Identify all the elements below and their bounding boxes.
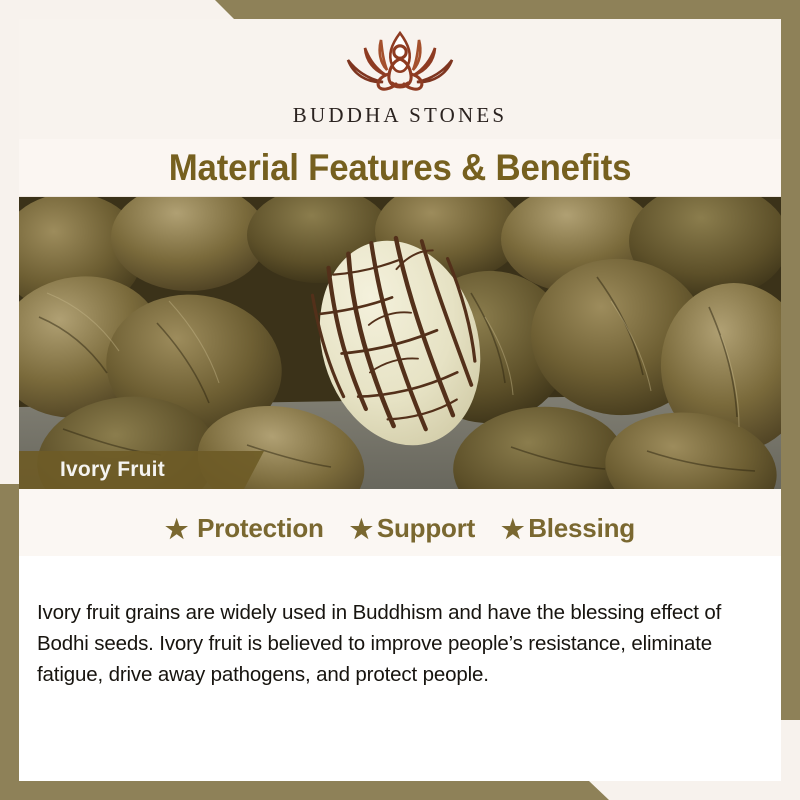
- benefits-row: ★ Protection ★ Support ★ Blessing: [19, 501, 781, 550]
- content-sheet: BUDDHA STONES Material Features & Benefi…: [19, 19, 781, 781]
- frame-band-right: [781, 0, 800, 720]
- frame-band-top: [0, 0, 800, 19]
- page-title: Material Features & Benefits: [169, 147, 631, 189]
- star-icon: ★: [165, 516, 188, 542]
- brand-name: BUDDHA STONES: [293, 103, 508, 128]
- star-icon: ★: [350, 516, 373, 542]
- benefit-label-protection: Protection: [197, 513, 324, 544]
- benefit-label-blessing: Blessing: [528, 513, 635, 544]
- benefit-item-blessing: ★ Blessing: [501, 513, 635, 544]
- poster-root: BUDDHA STONES Material Features & Benefi…: [0, 0, 800, 800]
- page-title-bar: Material Features & Benefits: [19, 139, 781, 197]
- photo-caption-text: Ivory Fruit: [19, 458, 165, 482]
- benefit-label-support: Support: [377, 513, 475, 544]
- photo-caption-banner: Ivory Fruit: [19, 451, 264, 489]
- benefit-item-protection: ★ Protection: [165, 513, 324, 544]
- description-text: Ivory fruit grains are widely used in Bu…: [37, 597, 753, 690]
- frame-band-left: [0, 484, 19, 800]
- lotus-meditation-icon: [334, 27, 466, 101]
- benefit-item-support: ★ Support: [350, 513, 475, 544]
- star-icon: ★: [501, 516, 524, 542]
- lower-content: ★ Protection ★ Support ★ Blessing Ivory …: [19, 489, 781, 781]
- ivory-fruit-nuts-photo: Ivory Fruit: [19, 197, 781, 489]
- description-panel: Ivory fruit grains are widely used in Bu…: [19, 556, 781, 781]
- brand-header: BUDDHA STONES: [19, 19, 781, 139]
- frame-band-bottom: [0, 781, 800, 800]
